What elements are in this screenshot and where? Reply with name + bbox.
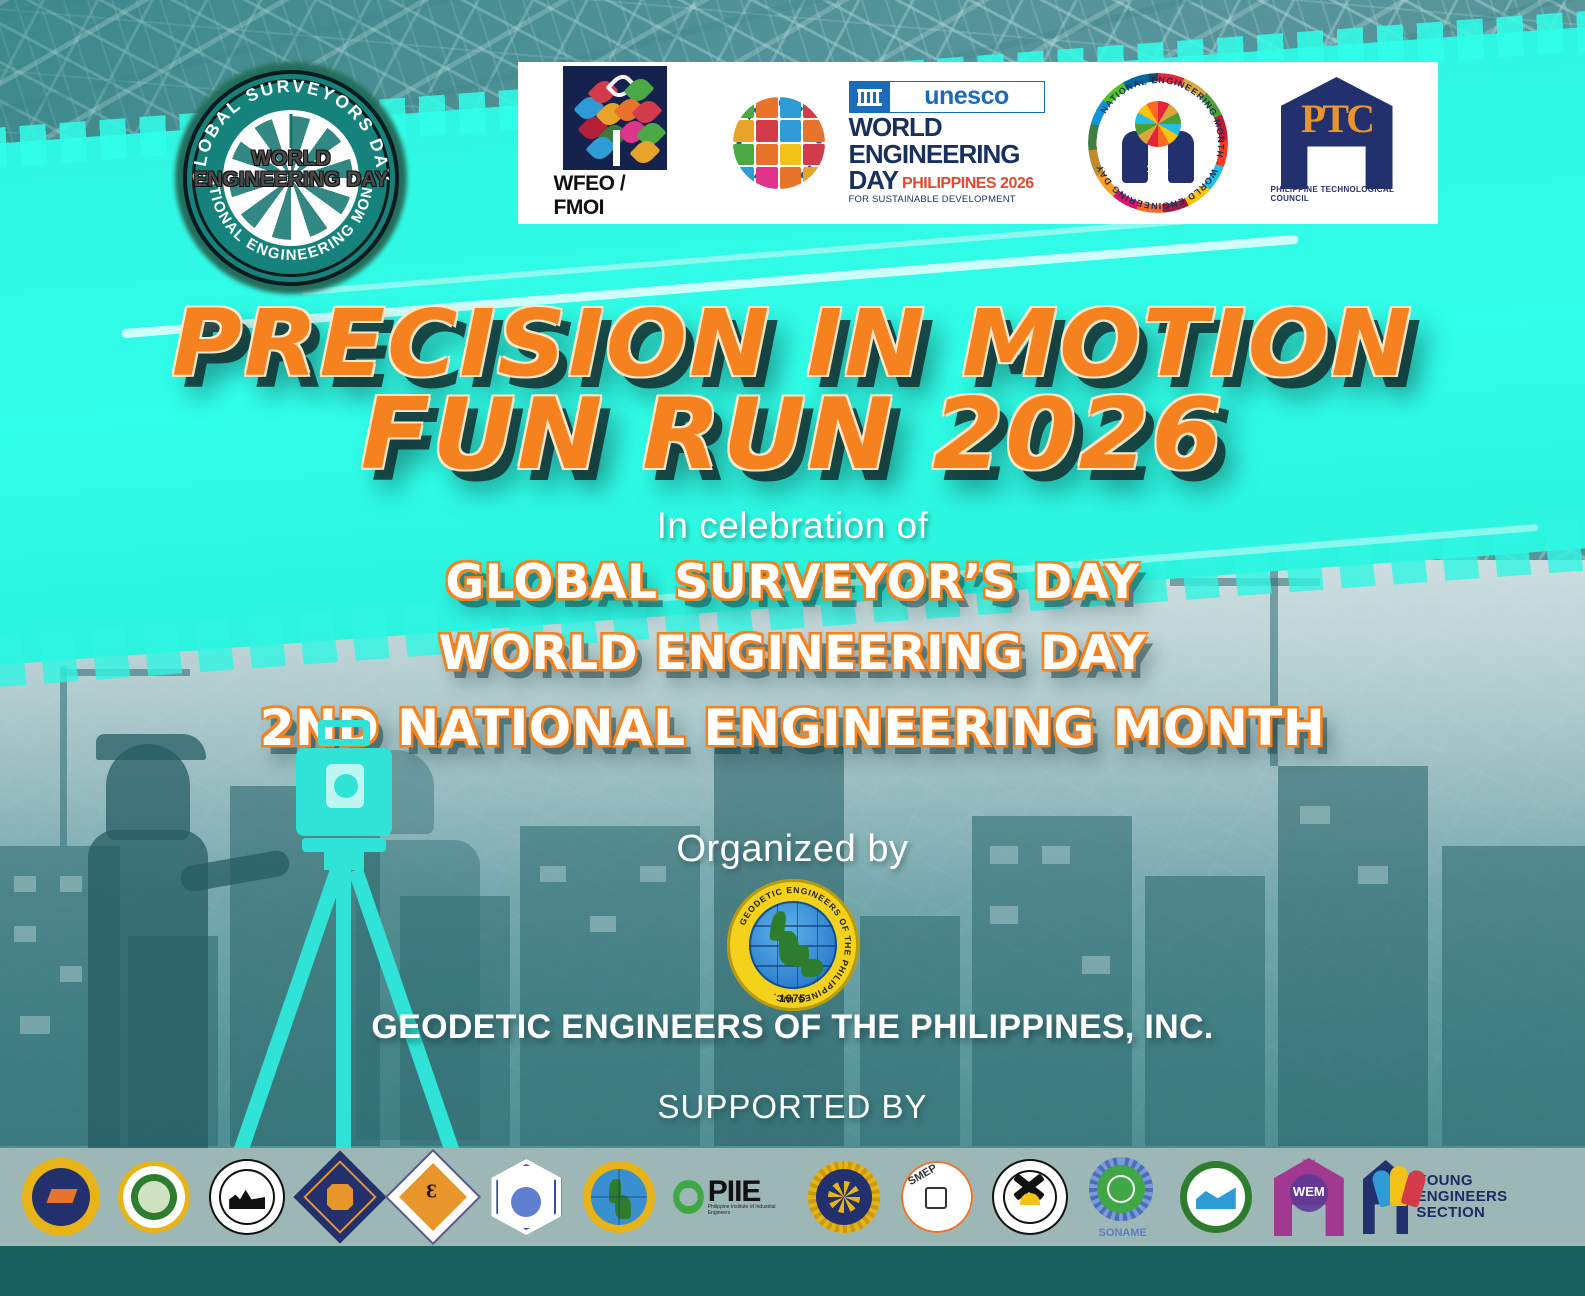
ptc-year: 1978 — [1281, 160, 1393, 177]
smep-logo: SMEP — [898, 1156, 976, 1238]
badge-center-text: WORLD ENGINEERING DAY — [175, 148, 407, 190]
gep-seal: GEODETIC ENGINEERS OF THE PHILIPPINES IN… — [727, 879, 859, 1011]
organizer-block: Organized by GEODETIC ENGINEERS OF THE P… — [0, 828, 1585, 1011]
yes-label: YOUNG ENGINEERS SECTION — [1416, 1172, 1507, 1221]
partner-logo-strip: WFEO / FMOI — [518, 62, 1438, 224]
iiee-logo — [487, 1156, 565, 1238]
nem-hands-icon: 1978 — [1114, 99, 1202, 187]
ptc-monogram: PTC — [1301, 95, 1372, 142]
smep-wordmark: SMEP — [906, 1162, 939, 1188]
national-engineering-month-logo: NATIONAL ENGINEERING MONTH · WORLD ENGIN… — [1088, 73, 1228, 213]
wed-line3: DAY — [849, 168, 899, 193]
nem-year: 1978 — [1114, 164, 1202, 175]
wed-line1: WORLD — [849, 115, 1045, 140]
unesco-world-engineering-day-logo: unesco WORLD ENGINEERING DAY PHILIPPINES… — [719, 81, 1045, 206]
gep-logo — [580, 1156, 658, 1238]
piie-subtitle: Philippine Institute of Industrial Engin… — [708, 1205, 790, 1217]
wed-tagline: FOR SUSTAINABLE DEVELOPMENT — [849, 194, 1045, 205]
wfeo-label: WFEO / FMOI — [554, 172, 676, 220]
wfeo-tree-icon — [563, 66, 667, 170]
pice-logo — [301, 1156, 379, 1238]
unesco-wordmark: unesco — [890, 82, 1044, 112]
iie-gear-logo — [22, 1156, 100, 1238]
celebration-event-2: WORLD ENGINEERING DAY — [0, 618, 1585, 689]
wem-logo: WEM 2214 — [1270, 1156, 1348, 1238]
young-engineers-section-logo: YOUNG ENGINEERS SECTION — [1363, 1156, 1563, 1238]
organizer-name: GEODETIC ENGINEERS OF THE PHILIPPINES, I… — [0, 1008, 1585, 1047]
soname-logo: SONAME — [1084, 1156, 1162, 1238]
wem-year: 2214 — [1274, 1160, 1344, 1166]
yes-wordmark: YOUNG ENGINEERS SECTION — [1416, 1173, 1562, 1221]
gep-year: 1975 — [727, 993, 859, 1005]
organized-by-label: Organized by — [0, 828, 1585, 871]
bottom-accent-strip — [0, 1246, 1585, 1296]
wed-globe-icon — [719, 83, 839, 203]
supporter-logo-bar: Ɛ PIIE Philippine Institute of In — [0, 1148, 1585, 1246]
gep-globe — [749, 901, 837, 989]
wed-line2: ENGINEERING — [849, 142, 1045, 167]
unesco-temple-icon — [850, 82, 890, 112]
poster-title: PRECISION IN MOTION FUN RUN 2026 — [0, 300, 1585, 482]
world-engineering-day-badge: GLOBAL SURVEYORS DAY NATIONAL ENGINEERIN… — [175, 62, 407, 294]
unesco-lockup: unesco — [849, 81, 1045, 113]
celebration-intro: In celebration of — [0, 505, 1585, 547]
title-line-2: FUN RUN 2026 — [0, 388, 1585, 482]
wem-wordmark: WEM — [1274, 1184, 1344, 1199]
title-line-1: PRECISION IN MOTION — [0, 300, 1585, 388]
event-poster: GLOBAL SURVEYORS DAY NATIONAL ENGINEERIN… — [0, 0, 1585, 1296]
wfeo-fmoi-logo: WFEO / FMOI — [554, 66, 676, 220]
psse-logo — [1177, 1156, 1255, 1238]
psme-logo — [805, 1156, 883, 1238]
soname-wordmark: SONAME — [1089, 1227, 1157, 1239]
celebration-event-1: GLOBAL SURVEYOR’S DAY — [0, 547, 1585, 618]
philippine-technological-council-logo: PTC 1978 PHILIPPINE TECHNOLOGICAL COUNCI… — [1271, 77, 1403, 209]
piche-logo — [208, 1156, 286, 1238]
supported-by-label: SUPPORTED BY — [0, 1088, 1585, 1126]
wed-country-year: PHILIPPINES 2026 — [902, 175, 1034, 193]
psabe-logo — [115, 1156, 193, 1238]
badge-center-label: WORLD ENGINEERING DAY — [193, 147, 388, 191]
piie-wordmark: PIIE — [708, 1178, 790, 1205]
piie-logo: PIIE Philippine Institute of Industrial … — [673, 1156, 789, 1238]
ptc-hex-icon: PTC 1978 — [1281, 77, 1393, 189]
iecep-logo: Ɛ — [394, 1156, 472, 1238]
psem-logo — [991, 1156, 1069, 1238]
